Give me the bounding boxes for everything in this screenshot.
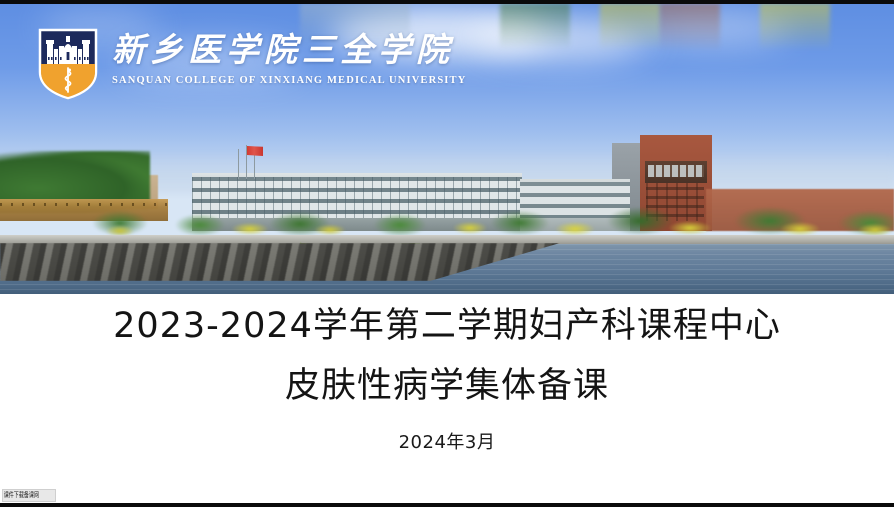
- flagpole: [246, 145, 247, 179]
- brand-name-cn: 新乡医学院三全学院: [112, 30, 466, 72]
- water-reflection: [760, 3, 830, 56]
- page-title-line-2: 皮肤性病学集体备课: [0, 360, 894, 412]
- university-shield-crest-icon: [38, 28, 98, 100]
- water-reflection: [600, 3, 660, 56]
- watermark-text: 课件下载备课网: [3, 490, 40, 500]
- page-title-line-1: 2023-2024学年第二学期妇产科课程中心: [0, 300, 894, 352]
- brand-wordmark: 新乡医学院三全学院 SANQUAN COLLEGE OF XINXIANG ME…: [112, 28, 466, 88]
- flag-icon: [247, 146, 263, 156]
- university-logo-lockup: 新乡医学院三全学院 SANQUAN COLLEGE OF XINXIANG ME…: [38, 28, 438, 106]
- water-reflection: [500, 3, 570, 56]
- brand-name-en: SANQUAN COLLEGE OF XINXIANG MEDICAL UNIV…: [112, 74, 466, 88]
- slide-date: 2024年3月: [0, 430, 894, 456]
- presentation-title-slide: 新乡医学院三全学院 SANQUAN COLLEGE OF XINXIANG ME…: [0, 0, 894, 507]
- tower-rooftop-structure: [645, 161, 707, 183]
- water-reflection: [660, 3, 720, 56]
- letterbox-bar-bottom: [0, 503, 894, 507]
- slide-title-block: 2023-2024学年第二学期妇产科课程中心 皮肤性病学集体备课 2024年3月: [0, 300, 894, 456]
- source-watermark: 课件下载备课网: [2, 489, 56, 502]
- flagpole: [238, 149, 239, 179]
- letterbox-bar-top: [0, 0, 894, 4]
